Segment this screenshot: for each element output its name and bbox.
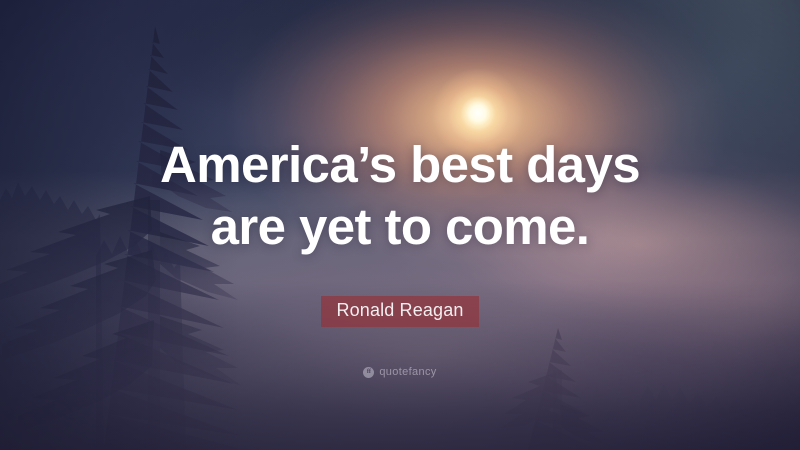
quote-line-1: America’s best days xyxy=(0,134,800,196)
author-name-badge: Ronald Reagan xyxy=(321,296,478,327)
author-attribution: Ronald Reagan xyxy=(0,296,800,327)
quotefancy-watermark[interactable]: ff quotefancy xyxy=(0,366,800,378)
quote-text: America’s best days are yet to come. xyxy=(0,134,800,258)
quote-line-2: are yet to come. xyxy=(0,196,800,258)
quote-image-canvas: America’s best days are yet to come. Ron… xyxy=(0,0,800,450)
watermark-label: quotefancy xyxy=(379,366,436,378)
quotefancy-logo-icon: ff xyxy=(363,367,374,378)
